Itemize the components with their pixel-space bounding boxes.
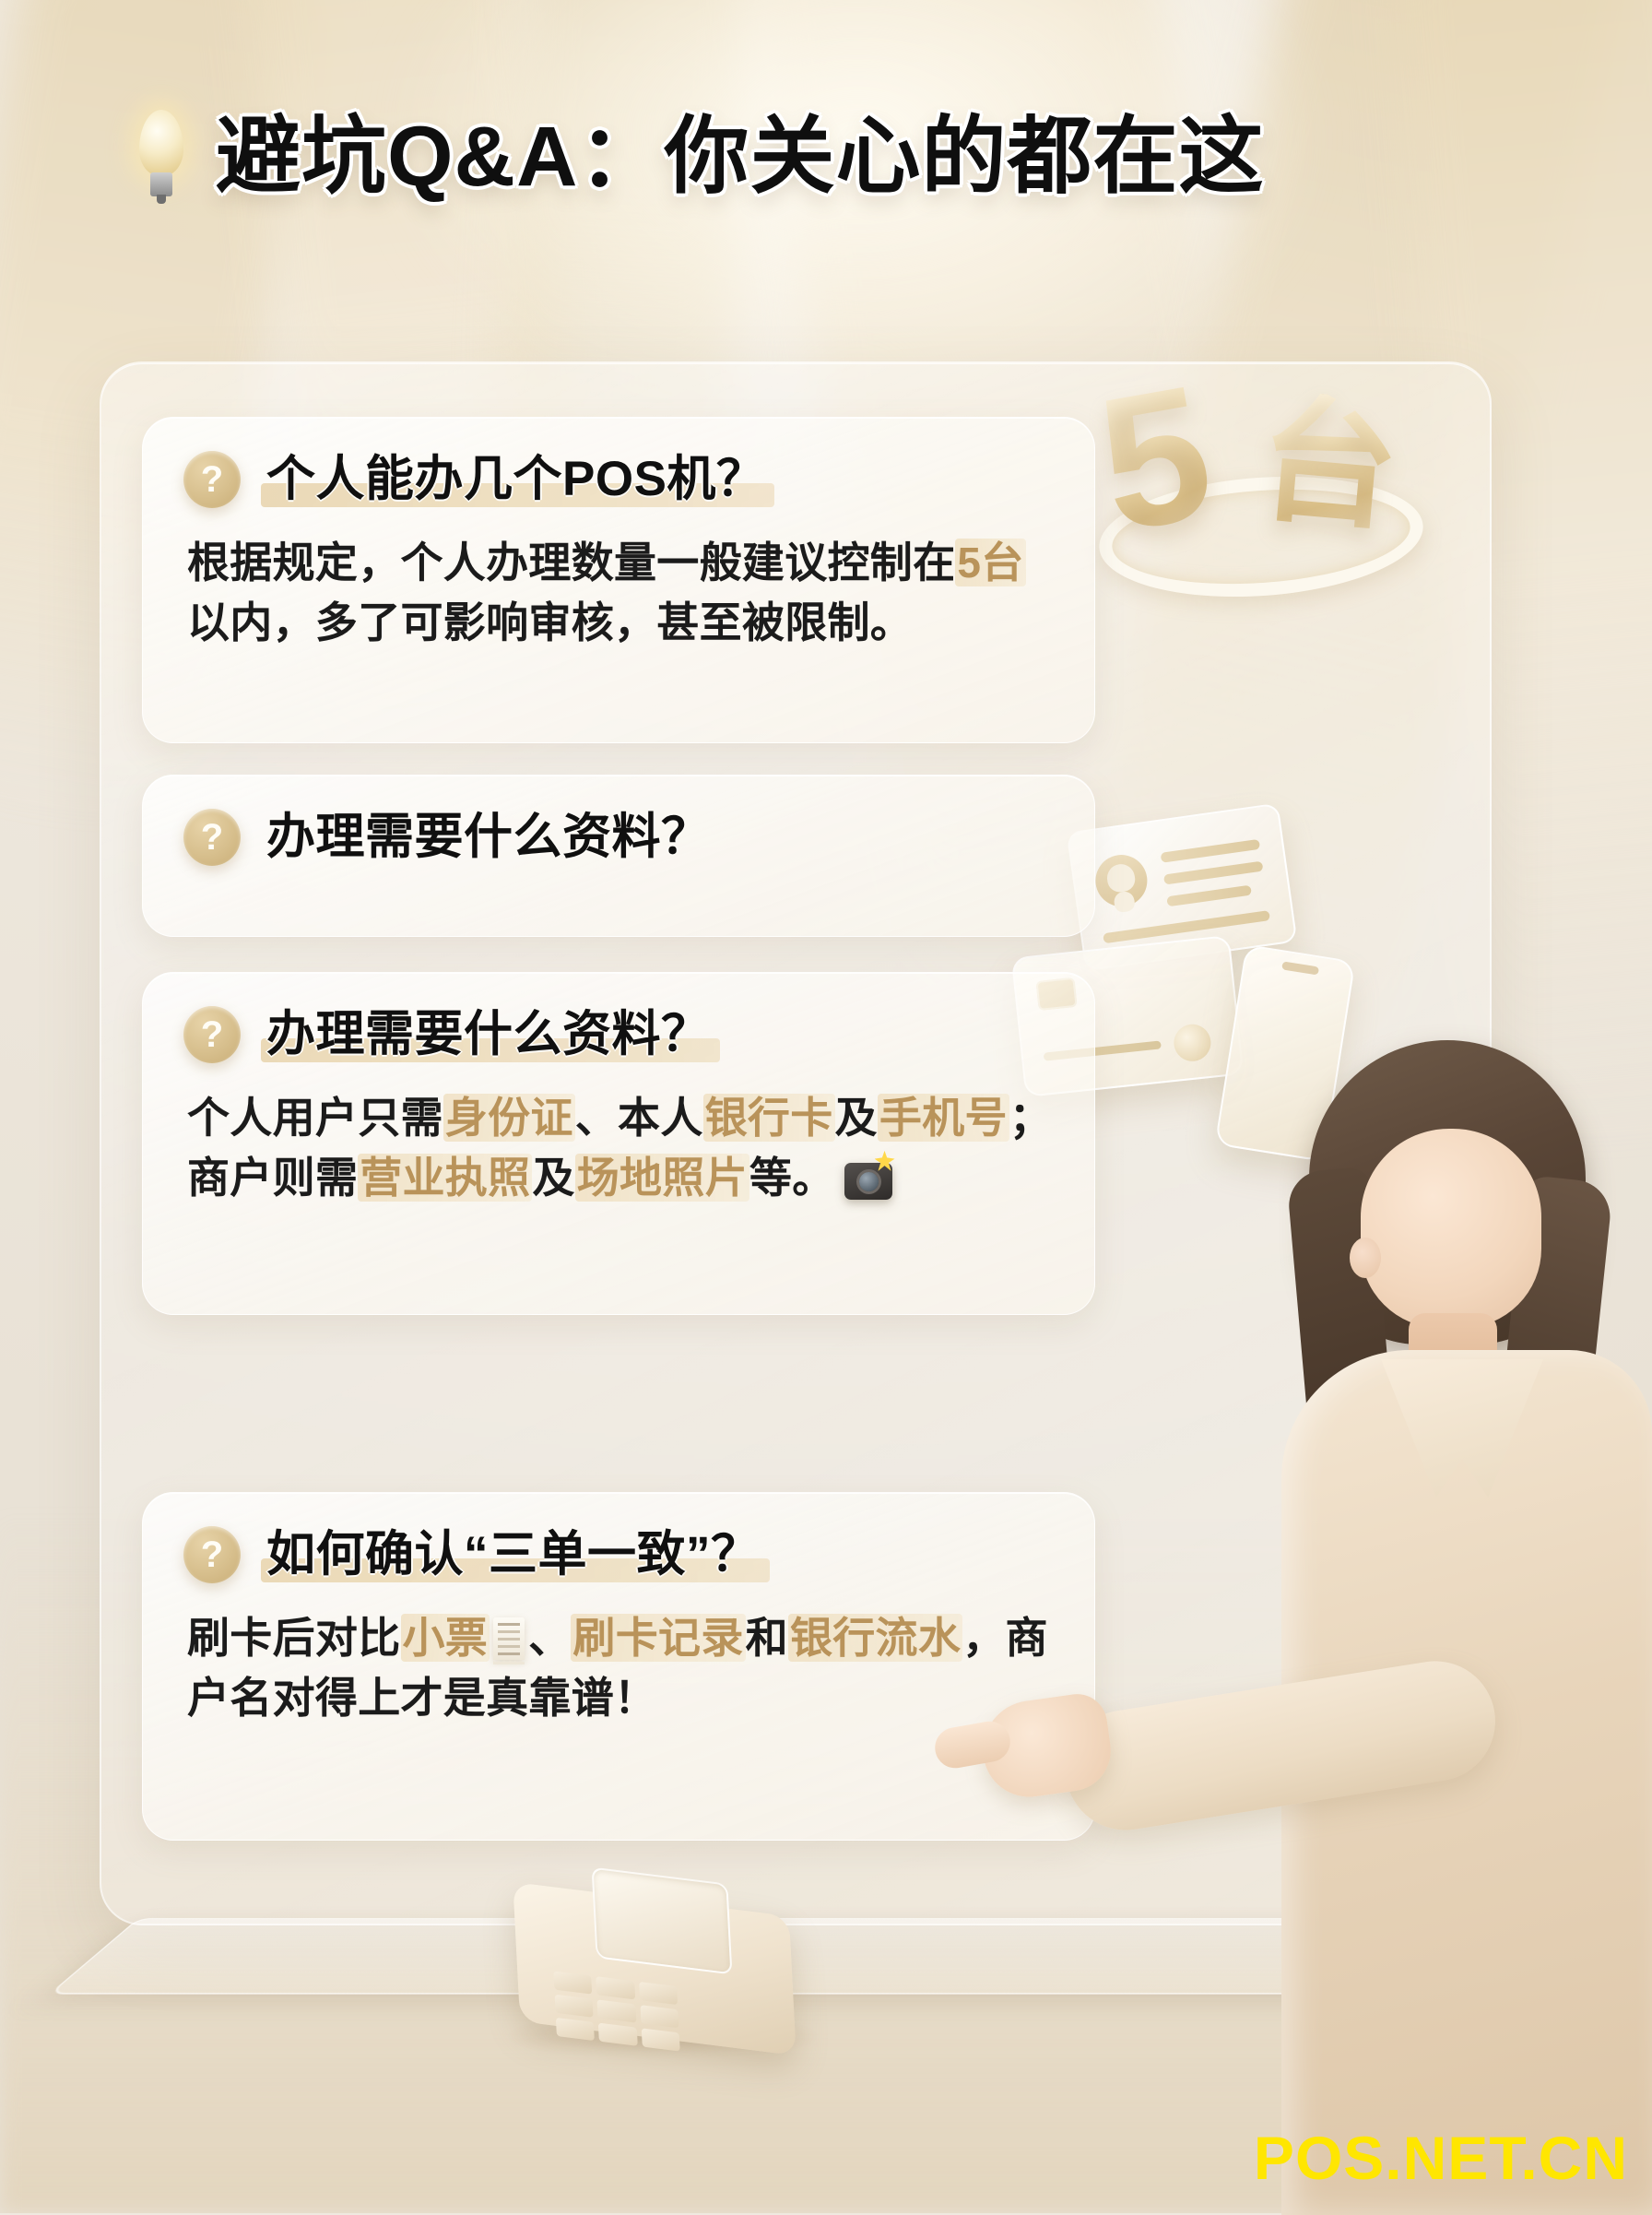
highlight-term: 5台 bbox=[955, 539, 1025, 586]
qa-answer-text: 个人用户只需身份证、本人银行卡及手机号；商户则需营业执照及场地照片等。 bbox=[183, 1088, 1054, 1209]
qa-question-title: 如何确认“三单一致”？ bbox=[261, 1526, 766, 1584]
qa-question-title: 办理需要什么资料？ bbox=[261, 809, 716, 867]
answer-text-run: ； bbox=[1009, 1094, 1052, 1142]
answer-text-run: 刷卡后对比 bbox=[187, 1614, 401, 1662]
receipt-icon bbox=[493, 1617, 525, 1660]
question-badge-icon: ? bbox=[183, 1526, 241, 1583]
highlight-term: 银行卡 bbox=[703, 1094, 835, 1142]
question-badge-icon: ? bbox=[183, 451, 241, 508]
qa-card[interactable]: ? 如何确认“三单一致”？ 刷卡后对比小票、刷卡记录和银行流水，商户名对得上才是… bbox=[142, 1492, 1095, 1841]
qa-card-header: ? 办理需要什么资料？ bbox=[183, 809, 1054, 867]
camera-icon bbox=[844, 1163, 892, 1200]
answer-text-run: 和 bbox=[746, 1614, 788, 1662]
answer-text-run: ， bbox=[962, 1614, 1005, 1662]
highlight-term: 营业执照 bbox=[358, 1154, 532, 1202]
page-title: 避坑Q&A：你关心的都在这 bbox=[216, 114, 1264, 199]
answer-text-run: 商户则需 bbox=[187, 1154, 358, 1202]
qa-question-title: 办理需要什么资料？ bbox=[261, 1006, 716, 1064]
qa-card-header: ? 个人能办几个POS机？ bbox=[183, 451, 1054, 509]
answer-text-run: 等。 bbox=[749, 1154, 835, 1202]
watermark: POS.NET.CN bbox=[1254, 2123, 1628, 2193]
answer-text-run: 以内，多了可影响审核，甚至被限制。 bbox=[187, 598, 913, 646]
qa-card[interactable]: ? 办理需要什么资料？ 个人用户只需身份证、本人银行卡及手机号；商户则需营业执照… bbox=[142, 972, 1095, 1315]
qa-card[interactable]: ? 个人能办几个POS机？ 根据规定，个人办理数量一般建议控制在5台以内，多了可… bbox=[142, 417, 1095, 743]
answer-text-run: 、 bbox=[528, 1614, 571, 1662]
page-header: 避坑Q&A：你关心的都在这 bbox=[129, 101, 1235, 212]
question-badge-icon: ? bbox=[183, 1006, 241, 1063]
highlight-term: 小票 bbox=[401, 1614, 490, 1662]
question-badge-icon: ? bbox=[183, 809, 241, 866]
highlight-term: 身份证 bbox=[443, 1094, 575, 1142]
answer-text-run: 及 bbox=[532, 1154, 574, 1202]
qa-card[interactable]: ? 办理需要什么资料？ bbox=[142, 775, 1095, 937]
qa-answer-text: 根据规定，个人办理数量一般建议控制在5台以内，多了可影响审核，甚至被限制。 bbox=[183, 533, 1054, 654]
highlight-term: 银行流水 bbox=[788, 1614, 962, 1662]
highlight-term: 手机号 bbox=[878, 1094, 1009, 1142]
qa-answer-text: 刷卡后对比小票、刷卡记录和银行流水，商户名对得上才是真靠谱！ bbox=[183, 1608, 1054, 1729]
answer-text-run: 及 bbox=[835, 1094, 878, 1142]
answer-text-run: 个人用户只需 bbox=[187, 1094, 443, 1142]
highlight-term: 刷卡记录 bbox=[571, 1614, 745, 1662]
presenter-character bbox=[1270, 1040, 1652, 2213]
highlight-term: 场地照片 bbox=[575, 1154, 749, 1202]
qa-card-header: ? 办理需要什么资料？ bbox=[183, 1006, 1054, 1064]
qa-card-header: ? 如何确认“三单一致”？ bbox=[183, 1526, 1054, 1584]
pos-terminal-icon bbox=[516, 1863, 848, 2066]
answer-text-run: 、本人 bbox=[575, 1094, 703, 1142]
answer-text-run: 根据规定，个人办理数量一般建议控制在 bbox=[187, 539, 955, 586]
qa-question-title: 个人能办几个POS机？ bbox=[261, 451, 771, 509]
background-glow bbox=[396, 0, 1318, 424]
lightbulb-icon bbox=[129, 108, 194, 206]
